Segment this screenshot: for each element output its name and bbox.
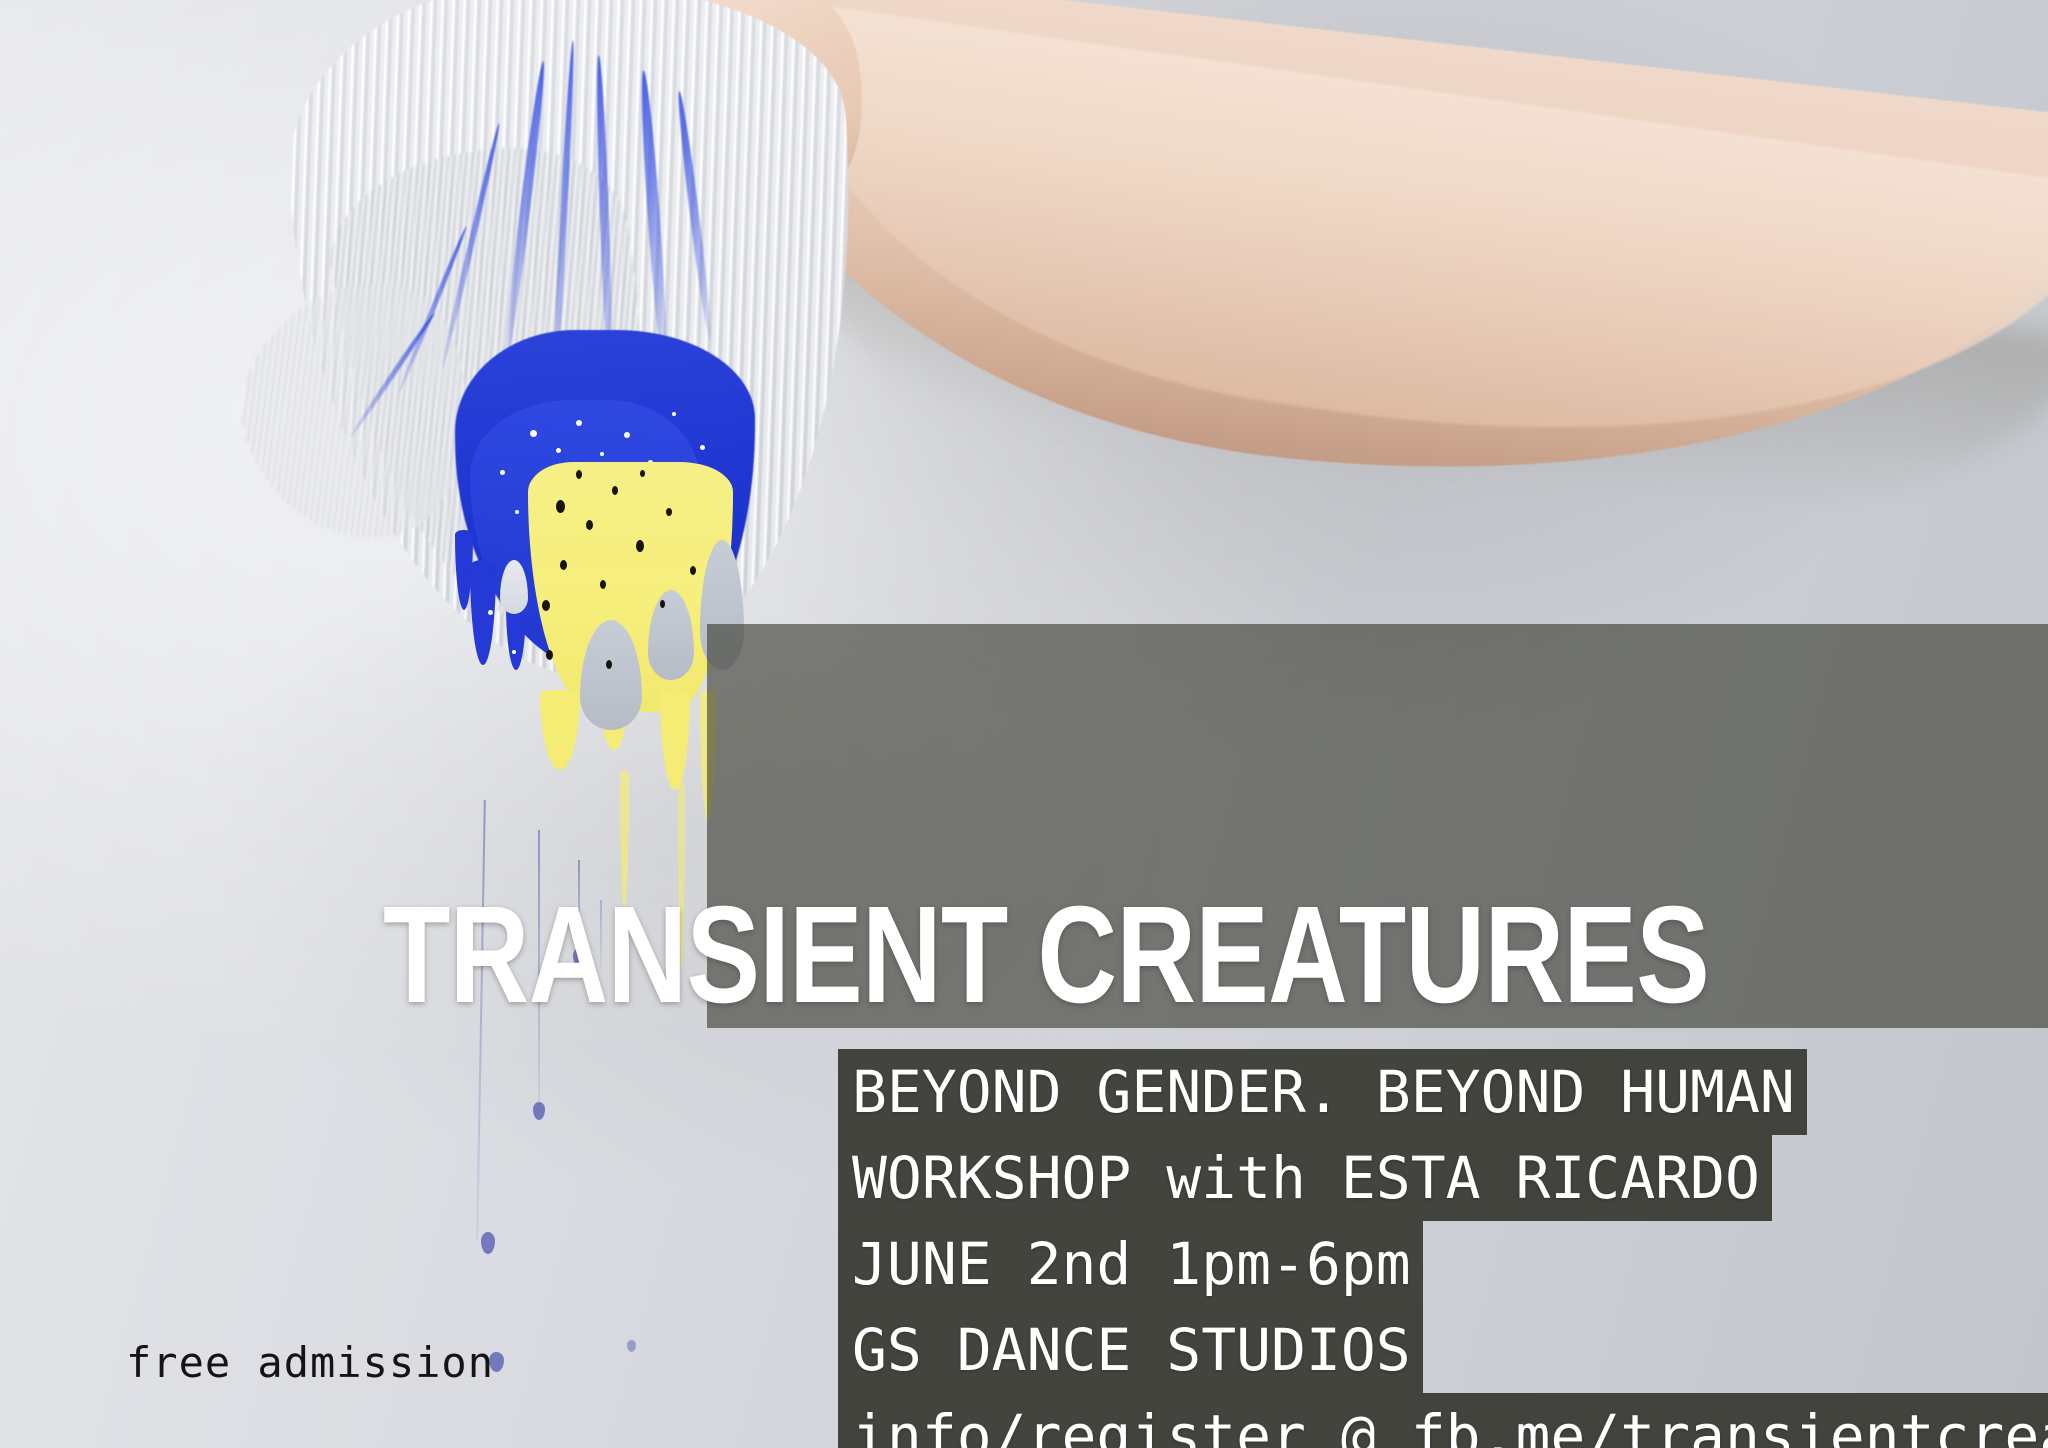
event-details-block: BEYOND GENDER. BEYOND HUMAN WORKSHOP wit… <box>838 1049 2048 1448</box>
paint-speck <box>500 470 505 475</box>
paint-speck <box>700 445 705 450</box>
poster-canvas: TRANSIENT CREATURES BEYOND GENDER. BEYON… <box>0 0 2048 1448</box>
paint-fleck <box>666 508 672 516</box>
paint-speck <box>488 610 493 615</box>
paint-speck <box>624 432 630 438</box>
paint-fleck <box>546 650 553 660</box>
paint-speck <box>600 452 604 456</box>
paint-fleck <box>576 470 582 479</box>
event-workshop: WORKSHOP with ESTA RICARDO <box>838 1135 1772 1221</box>
event-venue: GS DANCE STUDIOS <box>838 1307 1423 1393</box>
paint-fleck <box>640 470 645 477</box>
paint-fleck <box>606 660 612 669</box>
paint-speck <box>672 412 676 416</box>
page-title: TRANSIENT CREATURES <box>383 886 1715 1024</box>
event-contact-link[interactable]: info/register @ fb.me/transientcreatures <box>838 1393 2048 1448</box>
paint-speck <box>556 448 561 453</box>
paint-speck <box>576 420 582 426</box>
paint-fleck <box>542 600 550 611</box>
paint-speck <box>512 650 516 654</box>
paint-fleck <box>586 520 593 530</box>
paint-fleck <box>660 600 665 608</box>
paint-fleck <box>600 580 606 589</box>
admission-note: free admission <box>126 1338 494 1387</box>
paint-fleck <box>636 540 644 552</box>
event-date-time: JUNE 2nd 1pm-6pm <box>838 1221 1423 1307</box>
event-subtitle: BEYOND GENDER. BEYOND HUMAN <box>838 1049 1807 1135</box>
paint-speck <box>515 510 519 514</box>
paint-fleck <box>560 560 567 570</box>
paint-fleck <box>612 486 618 495</box>
paint-fleck <box>556 500 565 513</box>
paint-fleck <box>690 566 696 575</box>
paint-speck <box>530 430 537 437</box>
